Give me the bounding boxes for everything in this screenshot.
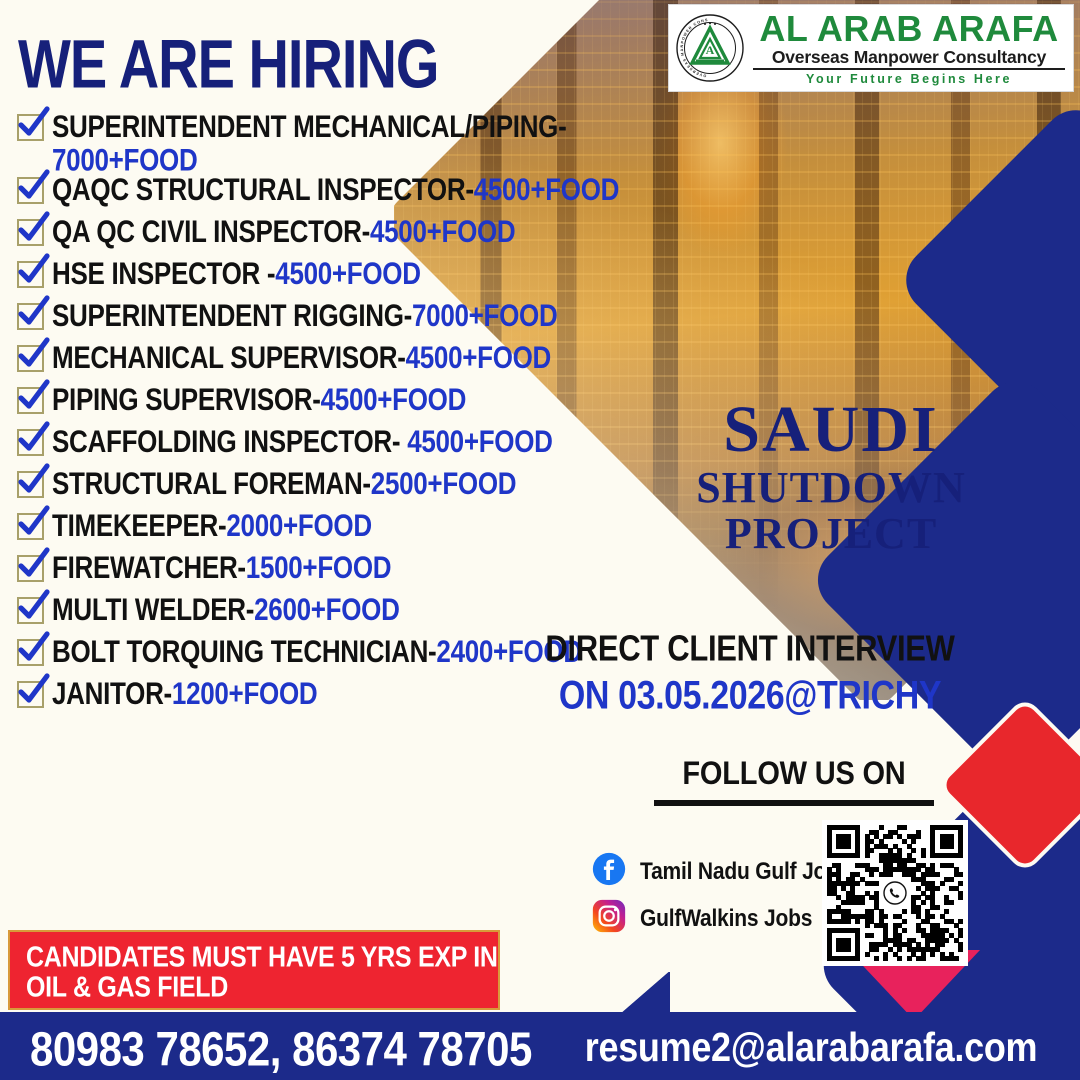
job-title: FIREWATCHER- bbox=[52, 549, 246, 585]
whatsapp-qr-code[interactable] bbox=[822, 820, 968, 966]
checkbox-icon bbox=[14, 677, 48, 711]
job-list-item: QA QC CIVIL INSPECTOR-4500+FOOD bbox=[14, 213, 664, 249]
job-title: QA QC CIVIL INSPECTOR- bbox=[52, 213, 370, 249]
job-salary: 4500+FOOD bbox=[407, 423, 552, 459]
job-text: FIREWATCHER-1500+FOOD bbox=[48, 549, 391, 583]
follow-us-heading: FOLLOW US ON bbox=[654, 756, 934, 793]
job-title: SUPERINTENDENT MECHANICAL/PIPING- bbox=[52, 108, 566, 144]
contact-phone-numbers[interactable]: 80983 78652, 86374 78705 bbox=[30, 1022, 510, 1077]
project-name: SHUTDOWN PROJECT bbox=[596, 465, 1066, 557]
logo-subtitle: Overseas Manpower Consultancy bbox=[753, 49, 1065, 71]
job-salary: 2000+FOOD bbox=[226, 507, 371, 543]
checkbox-icon bbox=[14, 110, 48, 144]
job-list-item: FIREWATCHER-1500+FOOD bbox=[14, 549, 664, 585]
job-list-item: SUPERINTENDENT MECHANICAL/PIPING-7000+FO… bbox=[14, 108, 664, 165]
checkbox-icon bbox=[14, 551, 48, 585]
facebook-icon[interactable] bbox=[592, 852, 626, 891]
job-salary: 4500+FOOD bbox=[474, 171, 619, 207]
job-salary: 2500+FOOD bbox=[371, 465, 516, 501]
job-title: HSE INSPECTOR - bbox=[52, 255, 275, 291]
checkbox-icon bbox=[14, 509, 48, 543]
page-title: WE ARE HIRING bbox=[18, 24, 438, 103]
checkbox-icon bbox=[14, 383, 48, 417]
job-text: QA QC CIVIL INSPECTOR-4500+FOOD bbox=[48, 213, 515, 247]
job-text: STRUCTURAL FOREMAN-2500+FOOD bbox=[48, 465, 516, 499]
job-text: SUPERINTENDENT MECHANICAL/PIPING-7000+FO… bbox=[48, 108, 664, 177]
social-account-item[interactable]: GulfWalkins Jobs bbox=[592, 899, 850, 938]
job-text: JANITOR-1200+FOOD bbox=[48, 675, 317, 709]
logo-tagline: Your Future Begins Here bbox=[753, 73, 1065, 86]
job-salary: 7000+FOOD bbox=[412, 297, 557, 333]
checkbox-icon bbox=[14, 635, 48, 669]
job-title: JANITOR- bbox=[52, 675, 172, 711]
job-salary: 4500+FOOD bbox=[406, 339, 551, 375]
social-handle: GulfWalkins Jobs bbox=[640, 905, 812, 932]
checkbox-icon bbox=[14, 257, 48, 291]
project-country: SAUDI bbox=[596, 398, 1066, 463]
job-title: PIPING SUPERVISOR- bbox=[52, 381, 321, 417]
job-salary: 1200+FOOD bbox=[172, 675, 317, 711]
job-title: SUPERINTENDENT RIGGING- bbox=[52, 297, 412, 333]
job-title: TIMEKEEPER- bbox=[52, 507, 226, 543]
company-logo: A OVERSEAS MANPOWER CONSULTANCY AL ARAB … bbox=[668, 4, 1074, 92]
job-salary: 2600+FOOD bbox=[254, 591, 399, 627]
job-list-item: SCAFFOLDING INSPECTOR- 4500+FOOD bbox=[14, 423, 664, 459]
checkbox-icon bbox=[14, 173, 48, 207]
job-list-item: STRUCTURAL FOREMAN-2500+FOOD bbox=[14, 465, 664, 501]
job-title: BOLT TORQUING TECHNICIAN- bbox=[52, 633, 436, 669]
job-text: TIMEKEEPER-2000+FOOD bbox=[48, 507, 372, 541]
job-text: SUPERINTENDENT RIGGING-7000+FOOD bbox=[48, 297, 557, 331]
job-title: MULTI WELDER- bbox=[52, 591, 254, 627]
logo-company-name: AL ARAB ARAFA bbox=[753, 11, 1065, 47]
whatsapp-icon bbox=[878, 876, 912, 910]
project-title-block: SAUDI SHUTDOWN PROJECT bbox=[596, 398, 1066, 557]
social-account-item[interactable]: Tamil Nadu Gulf Jobs bbox=[592, 852, 850, 891]
job-salary: 4500+FOOD bbox=[321, 381, 466, 417]
instagram-icon[interactable] bbox=[592, 899, 626, 938]
job-text: SCAFFOLDING INSPECTOR- 4500+FOOD bbox=[48, 423, 553, 457]
checkbox-icon bbox=[14, 425, 48, 459]
svg-text:A: A bbox=[706, 43, 715, 57]
job-vacancy-list: SUPERINTENDENT MECHANICAL/PIPING-7000+FO… bbox=[14, 108, 664, 717]
checkbox-icon bbox=[14, 299, 48, 333]
job-title: SCAFFOLDING INSPECTOR- bbox=[52, 423, 407, 459]
job-salary: 1500+FOOD bbox=[246, 549, 391, 585]
al-arab-arafa-emblem-icon: A OVERSEAS MANPOWER CONSULTANCY bbox=[675, 13, 745, 83]
job-title: STRUCTURAL FOREMAN- bbox=[52, 465, 371, 501]
job-text: MULTI WELDER-2600+FOOD bbox=[48, 591, 400, 625]
checkbox-icon bbox=[14, 215, 48, 249]
job-text: BOLT TORQUING TECHNICIAN-2400+FOOD bbox=[48, 633, 582, 667]
job-title: QAQC STRUCTURAL INSPECTOR- bbox=[52, 171, 474, 207]
recruitment-poster: A OVERSEAS MANPOWER CONSULTANCY AL ARAB … bbox=[0, 0, 1080, 1080]
job-list-item: SUPERINTENDENT RIGGING-7000+FOOD bbox=[14, 297, 664, 333]
interview-type: DIRECT CLIENT INTERVIEW bbox=[540, 628, 960, 670]
contact-email[interactable]: resume2@alarabarafa.com bbox=[556, 1024, 1066, 1071]
job-salary: 4500+FOOD bbox=[370, 213, 515, 249]
job-list-item: QAQC STRUCTURAL INSPECTOR-4500+FOOD bbox=[14, 171, 664, 207]
job-text: MECHANICAL SUPERVISOR-4500+FOOD bbox=[48, 339, 551, 373]
checkbox-icon bbox=[14, 341, 48, 375]
job-title: MECHANICAL SUPERVISOR- bbox=[52, 339, 406, 375]
job-list-item: PIPING SUPERVISOR-4500+FOOD bbox=[14, 381, 664, 417]
social-handle: Tamil Nadu Gulf Jobs bbox=[640, 858, 850, 885]
job-text: PIPING SUPERVISOR-4500+FOOD bbox=[48, 381, 466, 415]
requirement-line-2: OIL & GAS FIELD bbox=[26, 971, 498, 1005]
checkbox-icon bbox=[14, 467, 48, 501]
experience-requirement-banner: CANDIDATES MUST HAVE 5 YRS EXP IN OIL & … bbox=[8, 930, 500, 1010]
follow-us-block: FOLLOW US ON bbox=[654, 756, 934, 806]
job-text: HSE INSPECTOR -4500+FOOD bbox=[48, 255, 421, 289]
job-list-item: MECHANICAL SUPERVISOR-4500+FOOD bbox=[14, 339, 664, 375]
social-accounts-list: Tamil Nadu Gulf JobsGulfWalkins Jobs bbox=[592, 852, 850, 946]
follow-us-divider bbox=[654, 800, 934, 806]
interview-details: DIRECT CLIENT INTERVIEW ON 03.05.2026@TR… bbox=[540, 628, 960, 712]
job-salary: 4500+FOOD bbox=[275, 255, 420, 291]
job-list-item: HSE INSPECTOR -4500+FOOD bbox=[14, 255, 664, 291]
interview-date-venue: ON 03.05.2026@TRICHY bbox=[540, 673, 960, 719]
checkbox-icon bbox=[14, 593, 48, 627]
job-list-item: TIMEKEEPER-2000+FOOD bbox=[14, 507, 664, 543]
job-text: QAQC STRUCTURAL INSPECTOR-4500+FOOD bbox=[48, 171, 619, 205]
job-list-item: MULTI WELDER-2600+FOOD bbox=[14, 591, 664, 627]
